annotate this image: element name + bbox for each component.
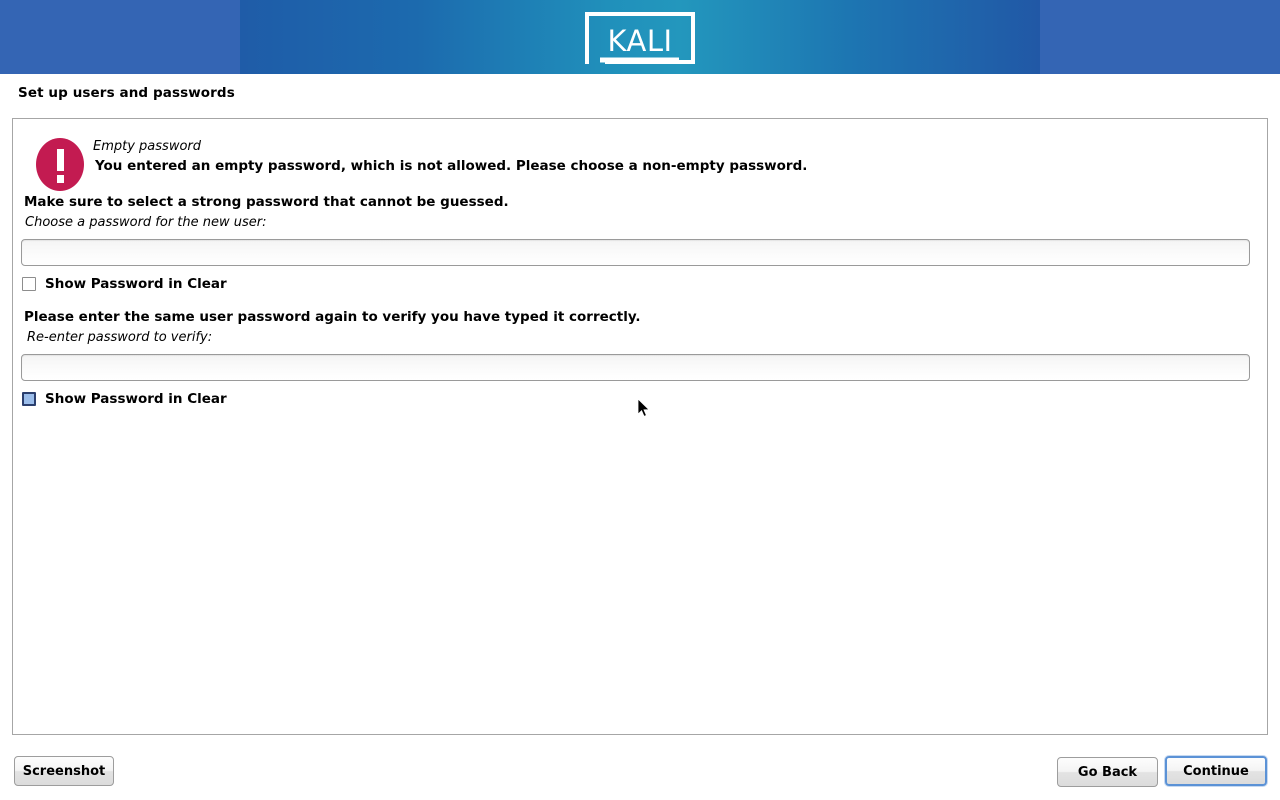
show-password-checkbox-row-2[interactable]: Show Password in Clear: [22, 391, 227, 407]
error-message-block: Empty password You entered an empty pass…: [24, 131, 1254, 199]
installer-main-panel: Empty password You entered an empty pass…: [12, 118, 1268, 735]
installer-banner: KALI: [0, 0, 1280, 74]
verify-field-label: Re-enter password to verify:: [27, 330, 212, 345]
show-password-checkbox-row-1[interactable]: Show Password in Clear: [22, 276, 227, 292]
kali-logo-icon: KALI: [583, 10, 697, 66]
verify-instruction: Please enter the same user password agai…: [24, 309, 641, 325]
password-field-label: Choose a password for the new user:: [25, 215, 267, 230]
page-title: Set up users and passwords: [18, 85, 235, 101]
screenshot-button[interactable]: Screenshot: [14, 756, 114, 786]
error-exclamation-icon: [36, 138, 84, 191]
go-back-button[interactable]: Go Back: [1057, 757, 1158, 787]
error-title: Empty password: [93, 139, 201, 154]
show-password-label-1: Show Password in Clear: [45, 276, 227, 292]
show-password-checkbox-2[interactable]: [22, 392, 36, 406]
password-input[interactable]: [21, 239, 1250, 266]
error-message: You entered an empty password, which is …: [95, 158, 807, 174]
svg-text:KALI: KALI: [607, 24, 672, 58]
password-instruction: Make sure to select a strong password th…: [24, 194, 509, 210]
show-password-label-2: Show Password in Clear: [45, 391, 227, 407]
continue-button[interactable]: Continue: [1165, 756, 1267, 786]
show-password-checkbox-1[interactable]: [22, 277, 36, 291]
verify-password-input[interactable]: [21, 354, 1250, 381]
